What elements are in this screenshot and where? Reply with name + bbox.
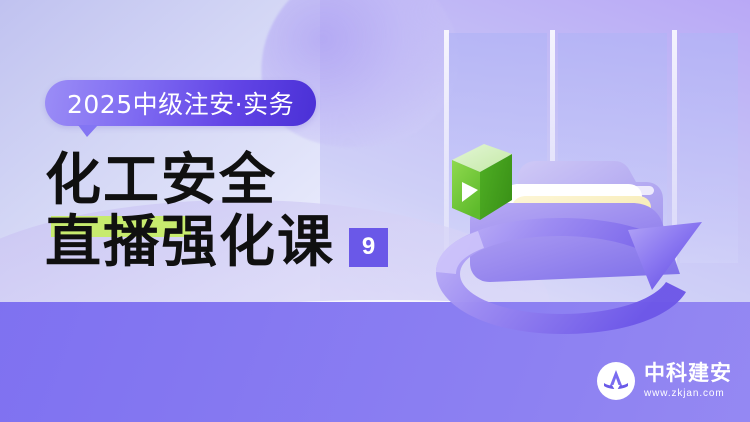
badge-tail-pointer (78, 125, 98, 137)
zkjan-monogram-svg (601, 366, 631, 396)
brand-name: 中科建安 (644, 363, 732, 384)
illustration-svg (400, 60, 730, 350)
headline-line-2: 直播强化课 (45, 212, 335, 274)
brand-logo: 中科建安 www.zkjan.com (597, 362, 732, 400)
hero-illustration (400, 60, 730, 350)
brand-url: www.zkjan.com (644, 389, 732, 399)
headline-line-1: 化工安全 (45, 150, 388, 212)
brand-logo-text: 中科建安 www.zkjan.com (644, 363, 732, 399)
course-category-badge-label: 2025中级注安·实务 (67, 85, 294, 121)
episode-number-badge: 9 (349, 228, 388, 267)
course-promo-poster: 2025中级注安·实务 化工安全 直播强化课 9 中科建安 www.zkjan.… (0, 0, 750, 422)
headline-line-2-row: 直播强化课 9 (45, 212, 388, 274)
headline-block: 化工安全 直播强化课 9 (45, 150, 388, 274)
course-category-badge: 2025中级注安·实务 (45, 80, 316, 126)
zkjan-monogram-icon (597, 362, 635, 400)
